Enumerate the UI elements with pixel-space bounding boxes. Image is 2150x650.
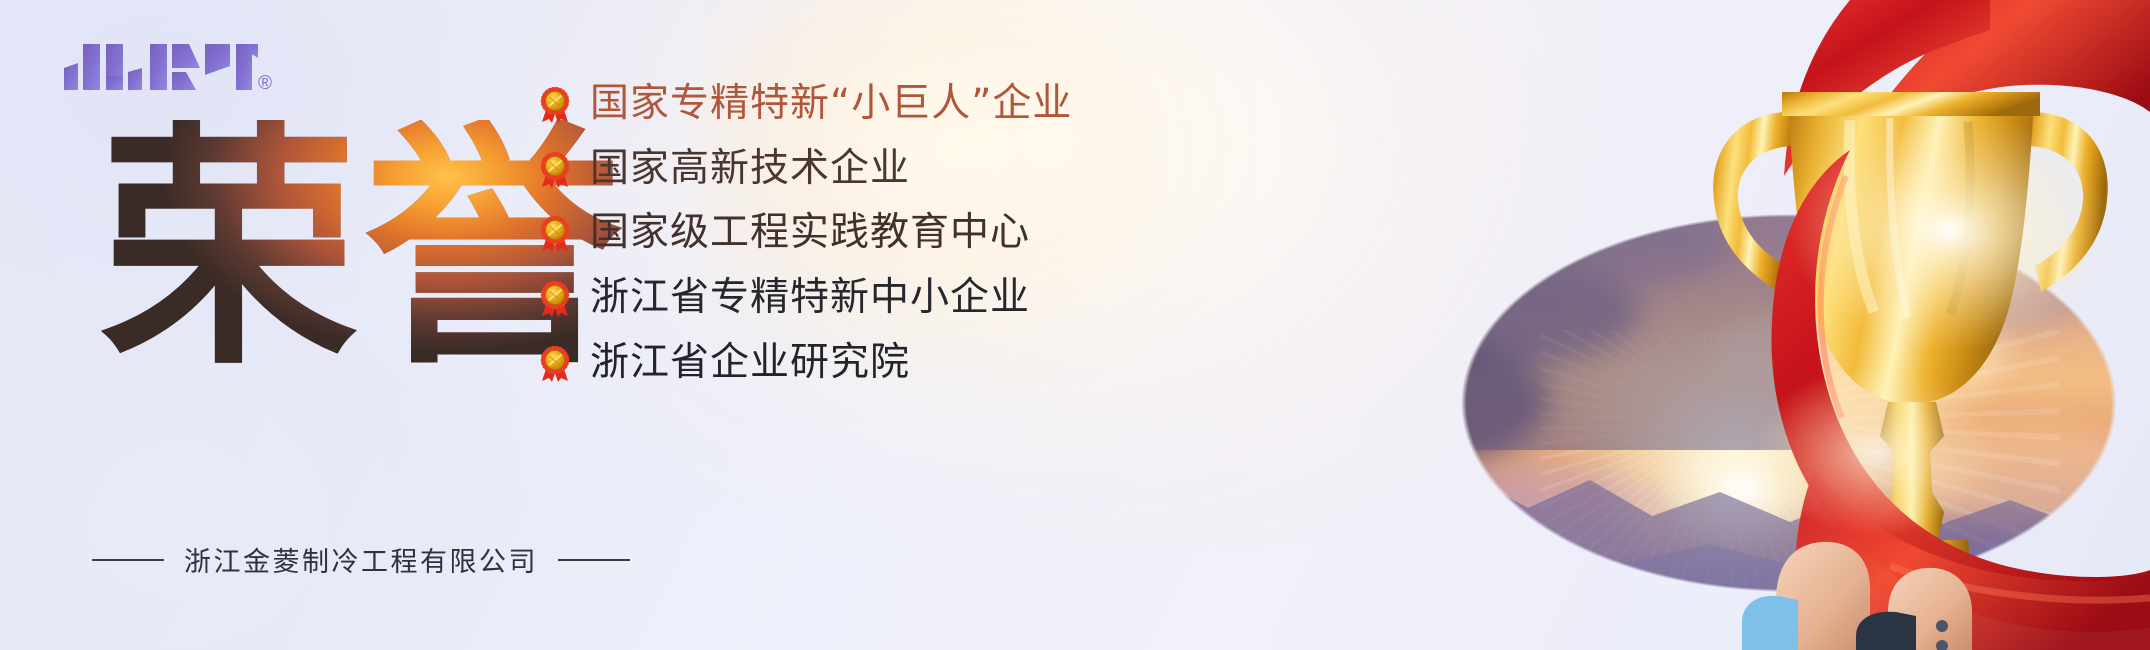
sleeve-button <box>1936 620 1948 632</box>
medal-ribbon-icon <box>540 279 570 317</box>
trophy-rim <box>1782 92 2040 116</box>
award-label: 国家高新技术企业 <box>590 147 910 191</box>
medal-ribbon-icon <box>540 279 570 317</box>
award-item: 浙江省专精特新中小企业 <box>540 276 1072 320</box>
registered-trademark-icon: ® <box>258 74 272 93</box>
divider-right <box>558 559 630 561</box>
medal-ribbon-icon <box>540 344 570 382</box>
medal-ribbon-icon <box>540 150 570 188</box>
light-flare <box>1790 110 2110 350</box>
divider-left <box>92 559 164 561</box>
medal-ribbon-icon <box>540 150 570 188</box>
medal-ribbon-icon <box>540 344 570 382</box>
medal-ribbon-icon <box>540 214 570 252</box>
light-flare <box>1756 368 1996 536</box>
award-label: 浙江省企业研究院 <box>590 341 910 385</box>
award-label: 国家专精特新“小巨人”企业 <box>590 82 1072 126</box>
company-logo[interactable]: ® <box>62 38 262 90</box>
award-item: 国家级工程实践教育中心 <box>540 211 1072 255</box>
award-list: 国家专精特新“小巨人”企业 国家高新技术企业 国家级工程实践教育中心 <box>540 82 1072 384</box>
award-label: 国家级工程实践教育中心 <box>590 211 1030 255</box>
medal-ribbon-icon <box>540 85 570 123</box>
trophy-group <box>1290 0 2150 650</box>
award-item: 国家专精特新“小巨人”企业 <box>540 82 1072 126</box>
medal-ribbon-icon <box>540 85 570 123</box>
sleeve <box>1742 596 1798 650</box>
company-name-row: 浙江金菱制冷工程有限公司 <box>92 540 630 579</box>
honor-banner: ® 荣誉 浙江金菱制冷工程有限公司 国家专精特新“小巨人”企业 <box>0 0 2150 650</box>
award-item: 浙江省企业研究院 <box>540 341 1072 385</box>
logo-mark-icon <box>62 38 262 90</box>
company-name: 浙江金菱制冷工程有限公司 <box>184 540 538 579</box>
award-item: 国家高新技术企业 <box>540 147 1072 191</box>
medal-ribbon-icon <box>540 214 570 252</box>
award-label: 浙江省专精特新中小企业 <box>590 276 1030 320</box>
trophy-artwork <box>1290 0 2150 650</box>
